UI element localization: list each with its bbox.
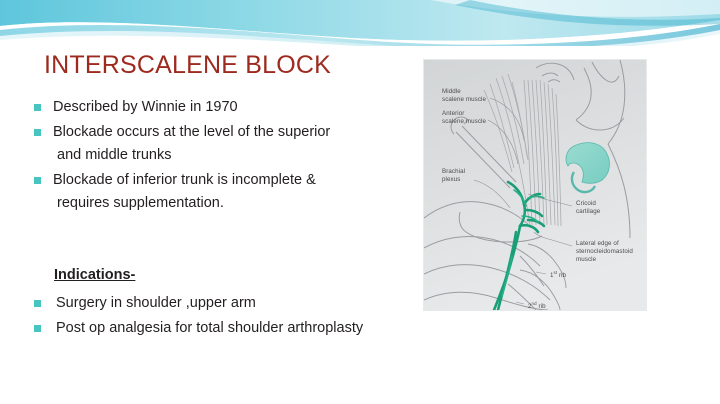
presentation-slide: INTERSCALENE BLOCK Described by Winnie i… (0, 0, 720, 404)
bullet-text: Post op analgesia for total shoulder art… (53, 317, 504, 340)
bullet-list: Described by Winnie in 1970 Blockade occ… (34, 96, 426, 217)
bullet-square-icon (34, 300, 41, 307)
list-item: Post op analgesia for total shoulder art… (34, 317, 504, 340)
bullet-square-icon (34, 325, 41, 332)
label-lateral-edge-sternocleidomastoid: Lateral edge of sternocleidomastoid musc… (576, 240, 633, 264)
anatomy-illustration: Middle scalene muscle Anterior scalene m… (424, 60, 646, 310)
page-title: INTERSCALENE BLOCK (44, 50, 331, 80)
list-item: Described by Winnie in 1970 (34, 96, 426, 119)
bullet-text: Blockade of inferior trunk is incomplete… (53, 169, 426, 215)
bullet-line-primary: Described by Winnie in 1970 (53, 99, 238, 115)
bullet-square-icon (34, 177, 41, 184)
bullet-text: Blockade occurs at the level of the supe… (53, 121, 426, 167)
bullet-line-continuation: and middle trunks (53, 144, 426, 167)
label-cricoid-cartilage: Cricoid cartilage (576, 200, 600, 216)
label-brachial-plexus: Brachial plexus (442, 168, 465, 184)
bullet-line-continuation: requires supplementation. (53, 192, 426, 215)
list-item: Blockade occurs at the level of the supe… (34, 121, 426, 167)
header-wave-banner (0, 0, 720, 46)
indications-heading: Indications- (54, 265, 135, 285)
label-anterior-scalene-muscle: Anterior scalene muscle (442, 110, 486, 126)
bullet-text: Described by Winnie in 1970 (53, 96, 426, 119)
bullet-line-primary: Blockade occurs at the level of the supe… (53, 124, 330, 140)
label-first-rib: 1st rib (550, 269, 566, 280)
bullet-square-icon (34, 104, 41, 111)
label-second-rib: 2nd rib (528, 300, 546, 310)
list-item: Blockade of inferior trunk is incomplete… (34, 169, 426, 215)
bullet-line-primary: Blockade of inferior trunk is incomplete… (53, 172, 316, 188)
label-middle-scalene-muscle: Middle scalene muscle (442, 88, 486, 104)
bullet-square-icon (34, 129, 41, 136)
